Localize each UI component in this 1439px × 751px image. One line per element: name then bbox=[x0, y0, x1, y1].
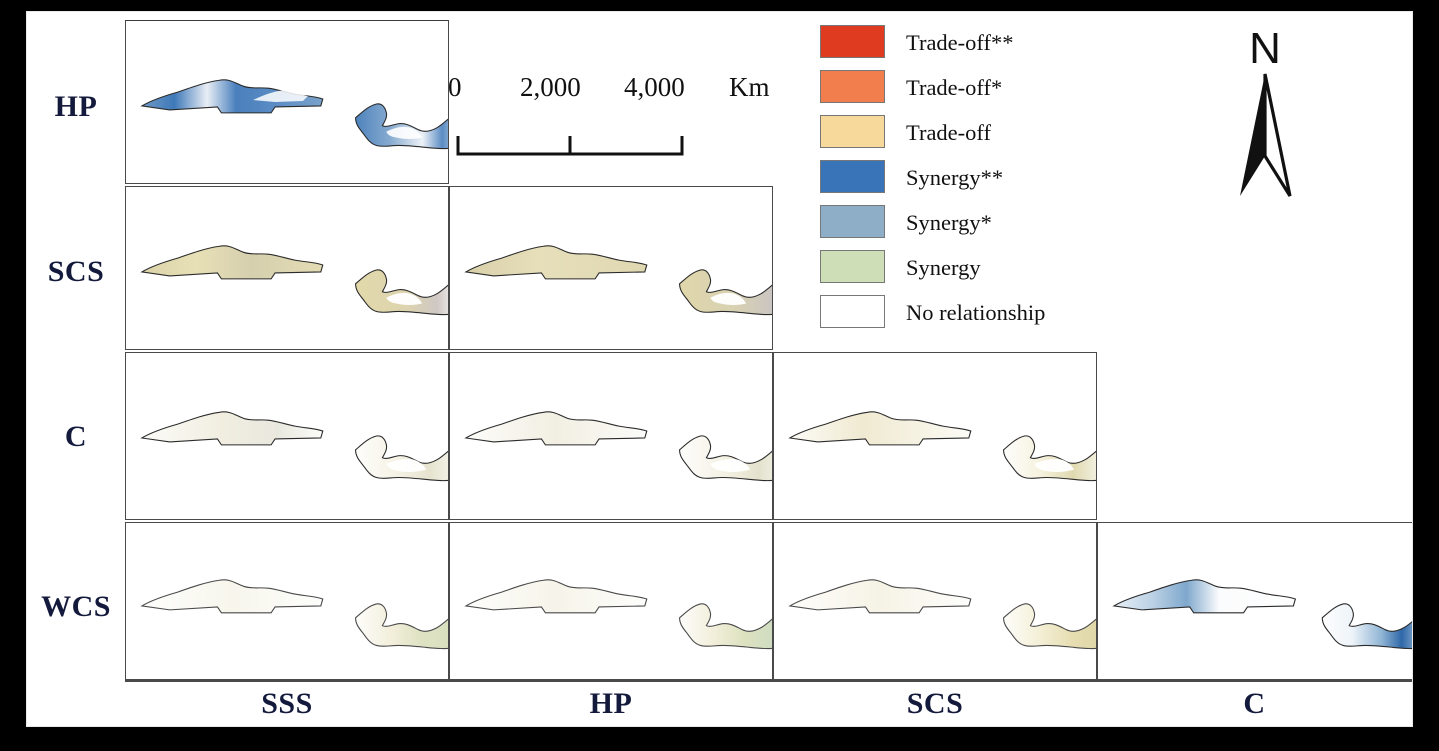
legend-label-no-relationship: No relationship bbox=[906, 290, 1045, 335]
axis-rule-bottom bbox=[125, 680, 1412, 682]
legend-label-trade-off-1: Trade-off* bbox=[906, 65, 1002, 110]
legend-swatch-synergy bbox=[820, 250, 885, 283]
map-pair-c-sss bbox=[126, 353, 448, 519]
legend-item-trade-off[interactable]: Trade-off bbox=[820, 110, 1120, 155]
map-pair-hp-sss bbox=[126, 21, 448, 183]
map-pair-wcs-sss bbox=[126, 523, 448, 679]
map-pair-c-scs bbox=[774, 353, 1096, 519]
legend-swatch-synergy-1 bbox=[820, 205, 885, 238]
scale-rule-graphic bbox=[456, 134, 684, 158]
legend-swatch-synergy-2 bbox=[820, 160, 885, 193]
cell-hp-sss[interactable] bbox=[125, 20, 449, 184]
col-label-c: C bbox=[1097, 684, 1412, 724]
legend-label-synergy-2: Synergy** bbox=[906, 155, 1003, 200]
legend-item-synergy-2[interactable]: Synergy** bbox=[820, 155, 1120, 200]
cell-scs-sss[interactable] bbox=[125, 186, 449, 350]
scale-tick-2000: 2,000 bbox=[520, 72, 581, 103]
north-arrow: N bbox=[1220, 24, 1310, 204]
scale-tick-labels: 0 2,000 4,000 Km bbox=[448, 72, 798, 118]
col-label-scs: SCS bbox=[773, 684, 1097, 724]
row-label-wcs: WCS bbox=[27, 590, 125, 624]
legend-item-trade-off-1[interactable]: Trade-off* bbox=[820, 65, 1120, 110]
north-needle-icon bbox=[1220, 72, 1310, 200]
scale-units-label: Km bbox=[729, 72, 770, 103]
map-pair-c-hp bbox=[450, 353, 772, 519]
legend: Trade-off** Trade-off* Trade-off Synergy… bbox=[820, 20, 1120, 335]
legend-swatch-trade-off bbox=[820, 115, 885, 148]
legend-item-no-relationship[interactable]: No relationship bbox=[820, 290, 1120, 335]
map-pair-scs-hp bbox=[450, 187, 772, 349]
legend-label-trade-off-2: Trade-off** bbox=[906, 20, 1014, 65]
row-label-c: C bbox=[27, 420, 125, 454]
legend-swatch-trade-off-2 bbox=[820, 25, 885, 58]
map-pair-wcs-scs bbox=[774, 523, 1096, 679]
figure-root: HP SCS C WCS SSS HP SCS C bbox=[0, 0, 1439, 751]
legend-swatch-no-relationship bbox=[820, 295, 885, 328]
map-pair-wcs-c bbox=[1098, 523, 1412, 679]
scale-tick-4000: 4,000 bbox=[624, 72, 685, 103]
map-pair-scs-sss bbox=[126, 187, 448, 349]
legend-label-trade-off: Trade-off bbox=[906, 110, 991, 155]
cell-c-hp[interactable] bbox=[449, 352, 773, 520]
cell-wcs-scs[interactable] bbox=[773, 522, 1097, 680]
col-label-hp: HP bbox=[449, 684, 773, 724]
scale-tick-0: 0 bbox=[448, 72, 462, 103]
legend-swatch-trade-off-1 bbox=[820, 70, 885, 103]
cell-c-sss[interactable] bbox=[125, 352, 449, 520]
legend-item-synergy[interactable]: Synergy bbox=[820, 245, 1120, 290]
legend-label-synergy-1: Synergy* bbox=[906, 200, 992, 245]
row-label-scs: SCS bbox=[27, 255, 125, 289]
cell-c-scs[interactable] bbox=[773, 352, 1097, 520]
cell-wcs-sss[interactable] bbox=[125, 522, 449, 680]
legend-item-synergy-1[interactable]: Synergy* bbox=[820, 200, 1120, 245]
row-label-hp: HP bbox=[27, 90, 125, 124]
north-letter-label: N bbox=[1220, 24, 1310, 74]
legend-label-synergy: Synergy bbox=[906, 245, 981, 290]
cell-wcs-c[interactable] bbox=[1097, 522, 1412, 680]
legend-item-trade-off-2[interactable]: Trade-off** bbox=[820, 20, 1120, 65]
cell-scs-hp[interactable] bbox=[449, 186, 773, 350]
cell-wcs-hp[interactable] bbox=[449, 522, 773, 680]
map-pair-wcs-hp bbox=[450, 523, 772, 679]
col-label-sss: SSS bbox=[125, 684, 449, 724]
scale-bar: 0 2,000 4,000 Km bbox=[448, 72, 798, 177]
figure-plate: HP SCS C WCS SSS HP SCS C bbox=[27, 12, 1412, 726]
